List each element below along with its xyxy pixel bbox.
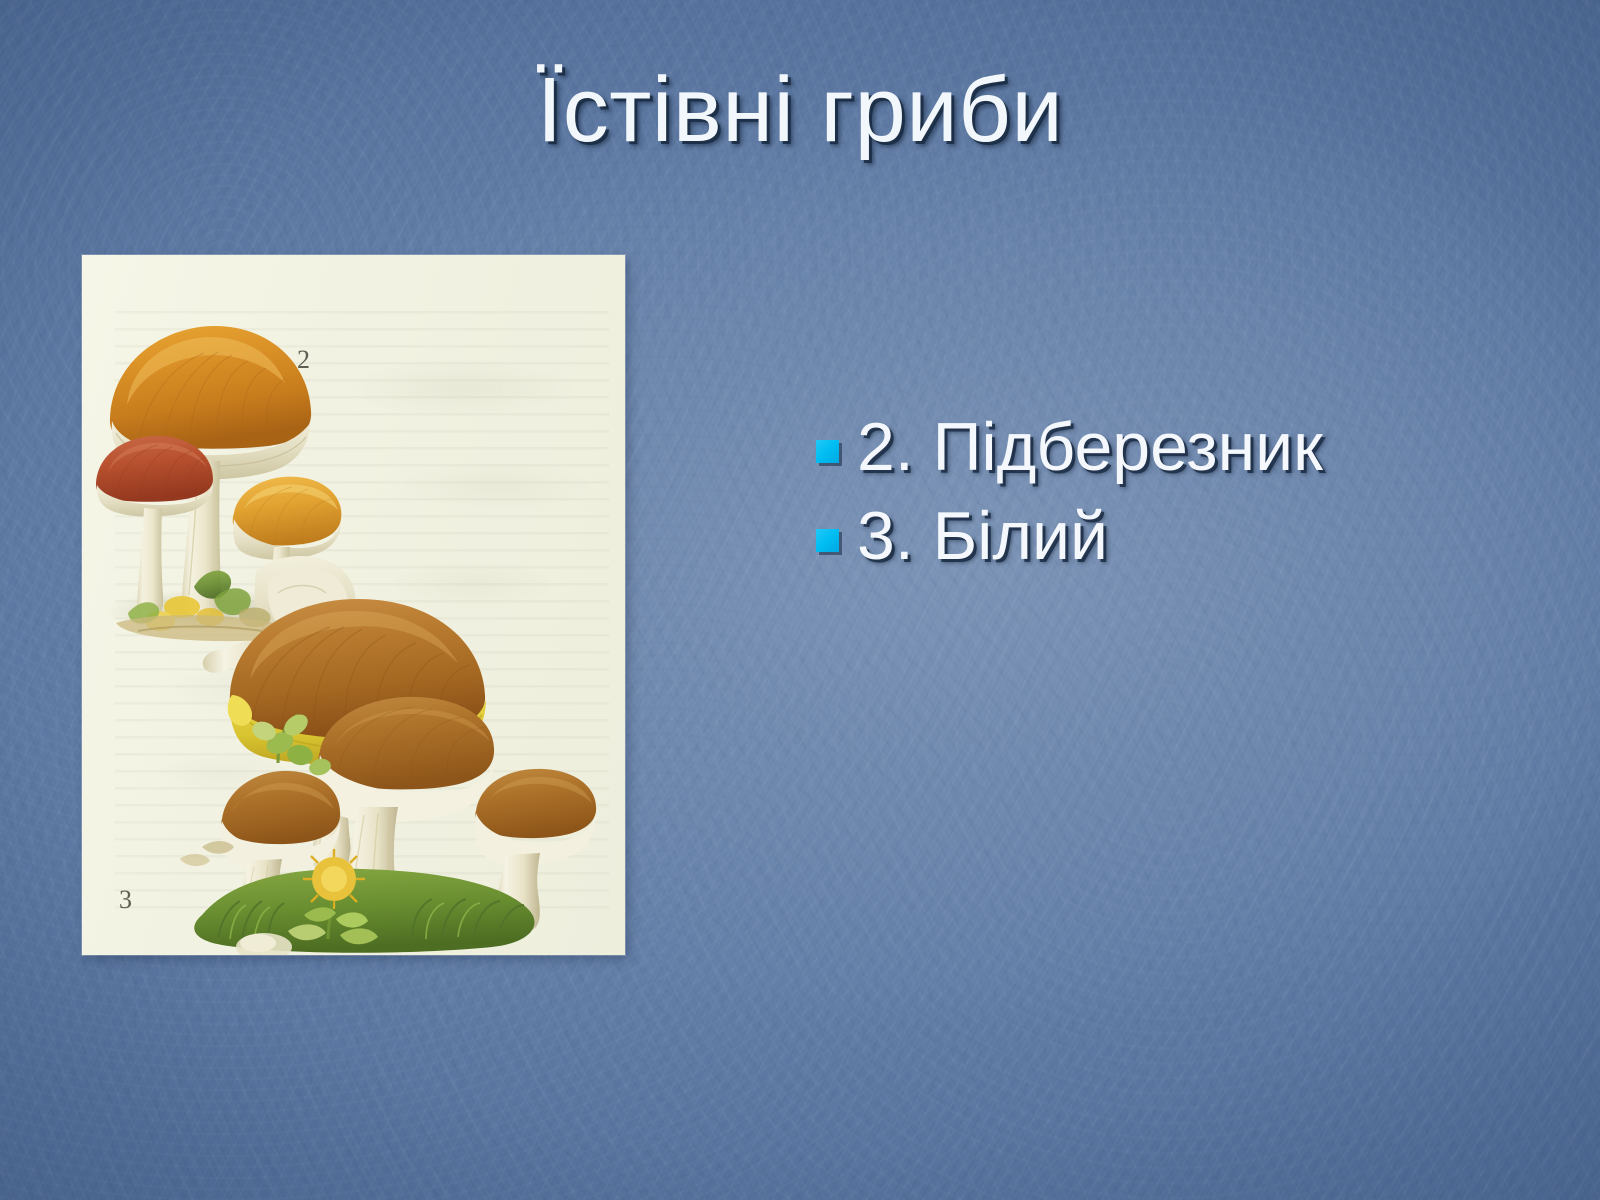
bullet-list: 2. Підберезник 3. Білий <box>816 412 1516 589</box>
list-item[interactable]: 2. Підберезник <box>816 412 1516 483</box>
filled-square-bullet-icon <box>816 440 839 463</box>
filled-square-bullet-icon <box>816 529 839 552</box>
mushroom-group-3 <box>194 599 596 955</box>
mushroom-artwork-svg <box>82 255 625 955</box>
list-item[interactable]: 3. Білий <box>816 501 1516 572</box>
presentation-slide: Їстівні гриби <box>0 0 1600 1200</box>
slide-title: Їстівні гриби <box>160 62 1440 160</box>
mushroom-illustration[interactable]: 2 3 <box>82 255 625 955</box>
bullet-label: 2. Підберезник <box>857 412 1323 483</box>
plate-label-3: 3 <box>119 885 132 915</box>
bullet-label: 3. Білий <box>857 501 1108 572</box>
plate-label-2: 2 <box>297 345 310 375</box>
